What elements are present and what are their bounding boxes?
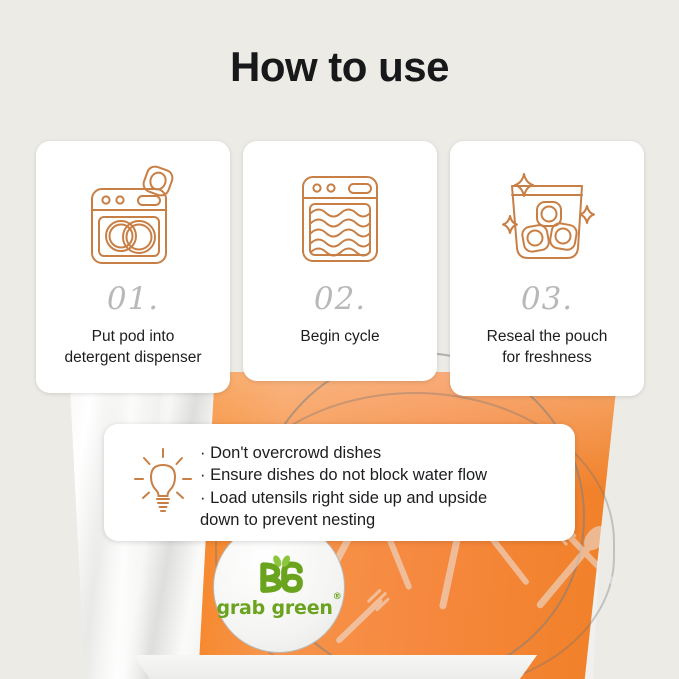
step-card-3[interactable]: 03. Reseal the pouch for freshness [450,141,644,396]
dishwasher-with-pod-icon-svg [81,165,185,273]
page-title: How to use [0,43,679,91]
lightbulb-icon-svg [132,446,194,518]
dishwasher-running-water-icon-svg [295,167,385,271]
step-text-3-line-2: for freshness [487,348,608,369]
tip-item-3-continuation: down to prevent nesting [200,509,487,531]
dishwasher-running-water-icon [295,163,385,275]
tips-panel[interactable]: Don't overcrowd dishes Ensure dishes do … [104,424,575,541]
resealable-pouch-icon-svg [493,168,601,270]
step-text-1-line-1: Put pod into [64,327,201,348]
step-text-3-line-1: Reseal the pouch [487,327,608,348]
step-number-1: 01. [107,281,159,317]
tip-item-3: Load utensils right side up and upside [200,487,487,509]
tip-item-1: Don't overcrowd dishes [200,442,487,464]
step-text-2-line-1: Begin cycle [300,327,379,348]
tips-list: Don't overcrowd dishes Ensure dishes do … [200,440,487,531]
step-text-2: Begin cycle [292,327,387,348]
step-number-3: 03. [521,281,573,317]
step-text-1-line-2: detergent dispenser [64,348,201,369]
resealable-pouch-icon [493,163,601,275]
instructions-overlay: How to use [0,0,679,679]
lightbulb-icon [126,440,200,518]
dishwasher-with-pod-icon [81,163,185,275]
step-text-3: Reseal the pouch for freshness [479,327,616,369]
step-card-2[interactable]: 02. Begin cycle [243,141,437,381]
step-text-1: Put pod into detergent dispenser [56,327,209,369]
step-number-2: 02. [314,281,366,317]
tip-item-2: Ensure dishes do not block water flow [200,464,487,486]
step-card-1[interactable]: 01. Put pod into detergent dispenser [36,141,230,393]
